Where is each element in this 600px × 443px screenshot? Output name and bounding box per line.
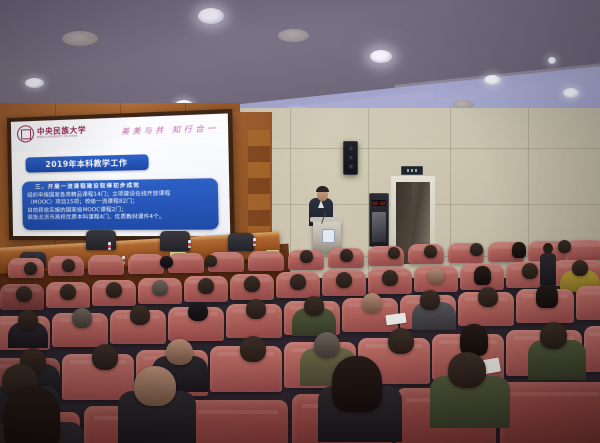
- audience-head: [106, 282, 122, 298]
- audience-head: [18, 310, 38, 330]
- university-name-en: MINZU UNIVERSITY OF CHINA: [37, 134, 86, 139]
- ceiling-light: [278, 29, 309, 42]
- ceiling-light: [484, 75, 501, 85]
- water-bottle: [188, 240, 191, 248]
- slide-title: 2019年本科教学工作: [45, 157, 127, 170]
- audience-head: [512, 242, 526, 258]
- projection-screen: 中央民族大学 MINZU UNIVERSITY OF CHINA 美美与共 知行…: [7, 109, 235, 240]
- auditorium-seat: [566, 240, 600, 260]
- audience-head: [188, 302, 208, 321]
- audience-head: [240, 336, 266, 362]
- line-array-speaker: [343, 141, 358, 175]
- audience-head: [470, 243, 483, 256]
- ceiling-light: [198, 8, 224, 24]
- lecture-hall-photo: 中央民族大学 MINZU UNIVERSITY OF CHINA 美美与共 知行…: [0, 0, 600, 443]
- auditorium-seat: [248, 251, 284, 271]
- auditorium-seat: [584, 326, 600, 372]
- water-bottle: [108, 242, 111, 250]
- audience-head: [72, 308, 92, 328]
- audience-head: [388, 328, 414, 354]
- audience-head: [205, 255, 217, 267]
- clock-time: 88:88: [372, 201, 385, 206]
- ceiling-light: [548, 57, 556, 64]
- audience-head: [24, 262, 37, 275]
- slide-content-box: 三、开展一流课程建设取得初步成效 组织申报国家各类精品课程14门；立项建设在线开…: [22, 178, 219, 230]
- ceiling-light: [25, 78, 44, 88]
- audience-head: [304, 296, 324, 316]
- auditorium-seat: [188, 400, 288, 443]
- audience-head: [540, 322, 567, 349]
- audience-head: [428, 268, 444, 284]
- audience-head: [314, 332, 340, 358]
- ceiling-light: [370, 50, 392, 63]
- audience-head: [474, 266, 491, 285]
- audience-head: [536, 284, 558, 308]
- audience-head: [16, 286, 32, 302]
- audience-head: [166, 339, 193, 365]
- ceiling-light: [62, 31, 98, 46]
- audience-head: [290, 274, 306, 290]
- audience-head: [522, 263, 538, 279]
- audience-head: [300, 250, 313, 263]
- audience-head: [448, 352, 486, 388]
- water-bottle: [253, 238, 256, 246]
- audience-head: [478, 287, 498, 307]
- audience-area: [0, 236, 600, 443]
- slide-body: 2019年本科教学工作 三、开展一流课程建设取得初步成效 组织申报国家各类精品课…: [11, 146, 230, 236]
- audience-head: [332, 356, 382, 412]
- auditorium-seat: [88, 255, 124, 275]
- slide-surface: 中央民族大学 MINZU UNIVERSITY OF CHINA 美美与共 知行…: [11, 113, 230, 236]
- audience-head: [572, 260, 588, 276]
- standing-attendee: [540, 243, 556, 285]
- exit-sign: [401, 166, 423, 175]
- ceiling-light: [563, 88, 579, 98]
- auditorium-seat: [168, 253, 204, 273]
- audience-head: [382, 270, 398, 286]
- audience-head: [336, 272, 352, 288]
- clock-display: 88:88: [372, 200, 386, 206]
- slide-line: 获批北京市高校优质本科课程4门、优质教材课件4个。: [28, 214, 213, 223]
- audience-head: [130, 305, 150, 325]
- audience-head: [60, 284, 76, 300]
- presenter-hair: [316, 186, 329, 192]
- audience-head: [246, 299, 266, 319]
- auditorium-seat: [576, 286, 600, 320]
- audience-head: [62, 259, 75, 272]
- auditorium-seat: [500, 382, 600, 443]
- audience-head: [134, 366, 176, 406]
- slide-title-banner: 2019年本科教学工作: [25, 154, 148, 172]
- audience-head: [198, 278, 214, 294]
- audience-head: [152, 280, 168, 296]
- audience-head: [340, 249, 353, 262]
- lectern-top: [310, 217, 344, 222]
- audience-head: [388, 247, 400, 259]
- audience-head: [92, 344, 118, 370]
- audience-head: [420, 290, 440, 310]
- university-motto: 美美与共 知行合一: [121, 122, 219, 137]
- university-seal-icon: [17, 125, 34, 143]
- audience-head: [558, 240, 571, 253]
- university-logo: 中央民族大学 MINZU UNIVERSITY OF CHINA: [17, 123, 86, 143]
- standing-attendee-body: [540, 253, 556, 285]
- auditorium-seat: [128, 254, 164, 274]
- audience-head: [4, 386, 60, 443]
- audience-head: [160, 256, 173, 268]
- audience-head: [244, 276, 260, 292]
- audience-head: [362, 293, 382, 313]
- audience-head: [424, 245, 437, 258]
